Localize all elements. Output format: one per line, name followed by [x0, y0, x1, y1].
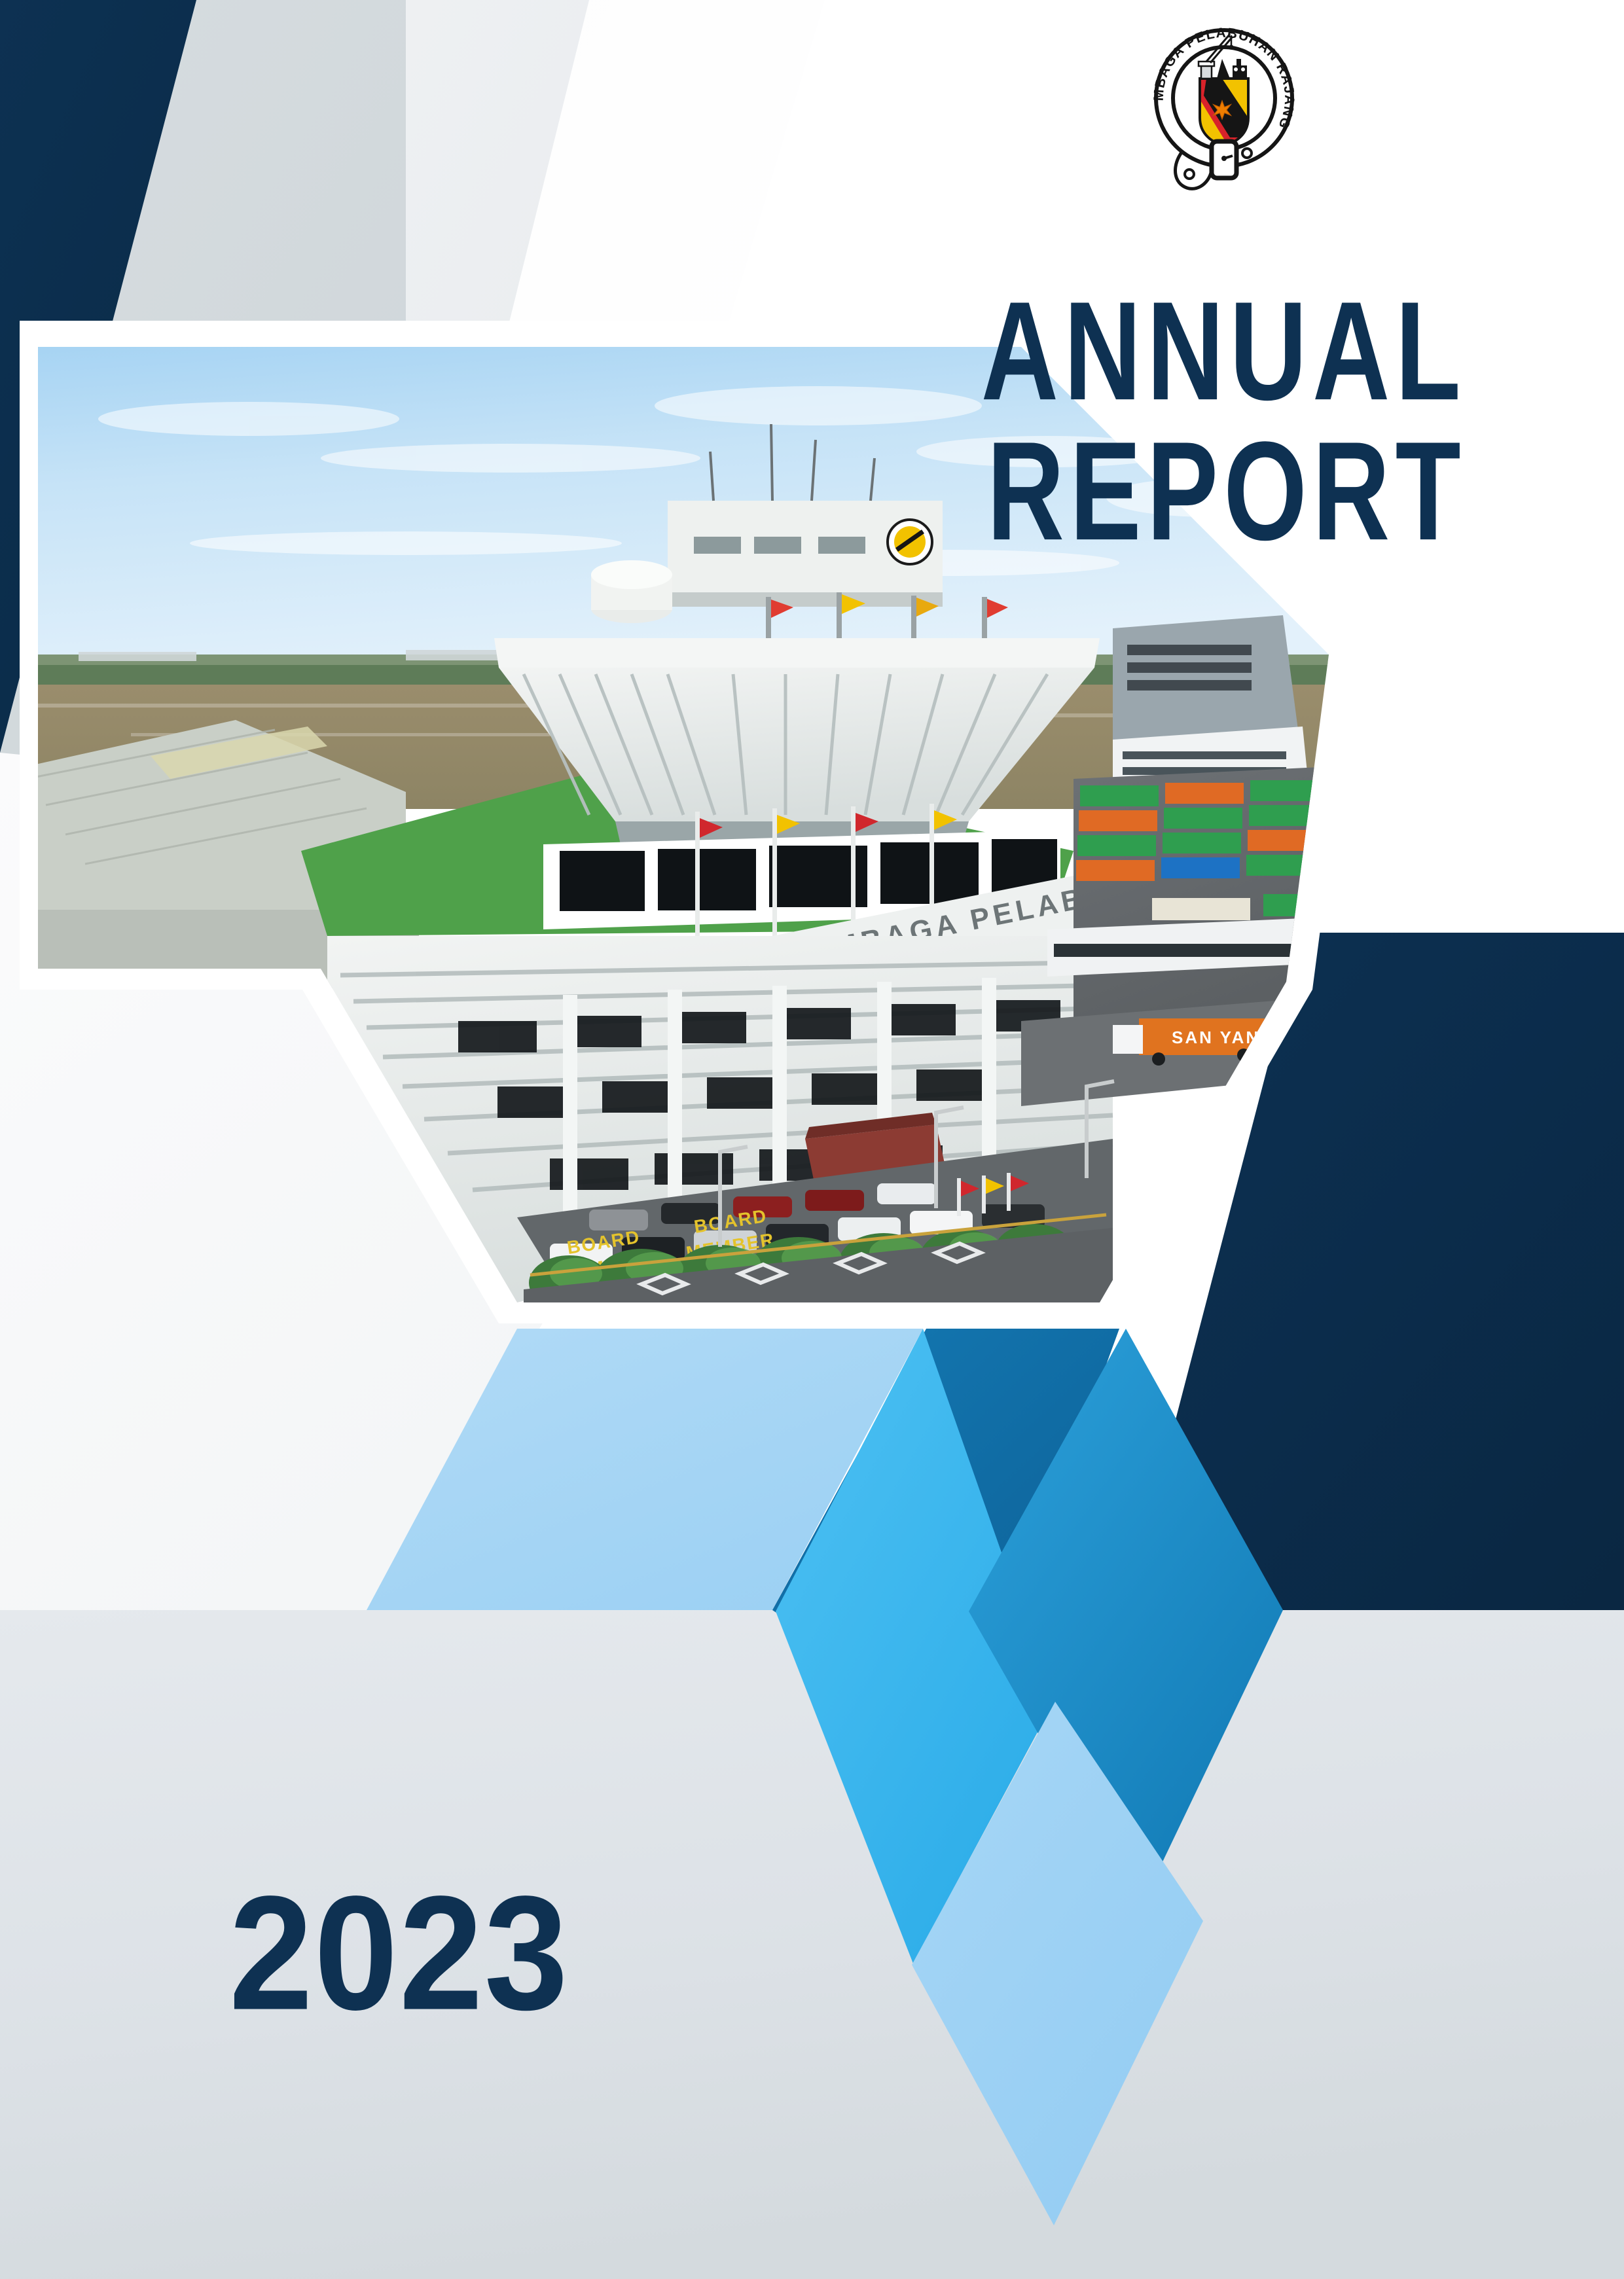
yard-access-road — [1021, 995, 1348, 1106]
pale-blue-parallelogram — [367, 1329, 923, 1610]
foreground-trees-highlight — [550, 1232, 1001, 1289]
rooftop-lawn — [301, 759, 1074, 936]
annual-report-cover-page: LEMBAGA PELABUHAN RAJANG — [0, 0, 1624, 2279]
office-glass-band — [543, 830, 1060, 929]
shipping-containers — [1076, 780, 1348, 920]
svg-text:BOARD: BOARD — [693, 1206, 768, 1237]
top-left-pale-triangle — [196, 0, 589, 792]
page-title: ANNUAL REPORT — [772, 308, 1466, 561]
roof-flags — [766, 592, 1008, 641]
svg-text:LEMBAGA PELABUHAN RAJANG: LEMBAGA PELABUHAN RAJANG — [787, 832, 1339, 973]
svg-text:MEMBER: MEMBER — [685, 1229, 776, 1263]
front-flagpoles — [695, 804, 957, 936]
title-line-annual: ANNUAL — [821, 283, 1466, 420]
deep-blue-diamond — [772, 1329, 1119, 1741]
container-truck — [1139, 1018, 1303, 1055]
podium-louvre-band — [499, 668, 1094, 821]
podium-upper-deck — [494, 638, 1100, 668]
top-left-navy-triangle — [0, 0, 196, 753]
gateway-flags — [957, 1173, 1029, 1216]
guardrail — [530, 1215, 1106, 1275]
facade-signage-band — [772, 870, 1113, 995]
entrance-canopy — [805, 1124, 948, 1195]
port-warehouse-shed — [1047, 916, 1348, 977]
foreground-trees — [529, 1224, 1074, 1310]
title-line-report: REPORT — [821, 423, 1466, 561]
road-markings — [641, 1244, 981, 1293]
main-facade-louvres — [327, 936, 1113, 1302]
board-member-parking-markings: BOARD MEMBER BOARD MEMBER — [558, 1206, 776, 1284]
warehouse-roof — [0, 720, 406, 956]
port-office-block — [1113, 615, 1299, 753]
mid-blue-diamond — [969, 1329, 1283, 1911]
report-year: 2023 — [229, 1872, 569, 2034]
lembaga-pelabuhan-rajang-logo: LEMBAGA PELABUHAN RAJANG — [1149, 18, 1299, 208]
parked-cars — [550, 1183, 1045, 1267]
light-blue-bottom-diamond — [912, 1702, 1203, 2225]
top-left-white-triangle — [406, 0, 825, 792]
bright-blue-diamond — [776, 1329, 1054, 1964]
svg-text:BOARD: BOARD — [566, 1227, 641, 1258]
street-lamps — [720, 1081, 1114, 1247]
staff-car-park — [517, 1139, 1113, 1302]
container-yard — [1074, 766, 1348, 1021]
front-road — [524, 1228, 1113, 1302]
left-white-panel — [0, 753, 543, 1617]
navy-right-block — [1126, 933, 1624, 1610]
svg-text:MEMBER: MEMBER — [558, 1250, 649, 1284]
top-left-grey-triangle — [0, 0, 406, 792]
svg-text:SAN YANG: SAN YANG — [1172, 1028, 1275, 1047]
